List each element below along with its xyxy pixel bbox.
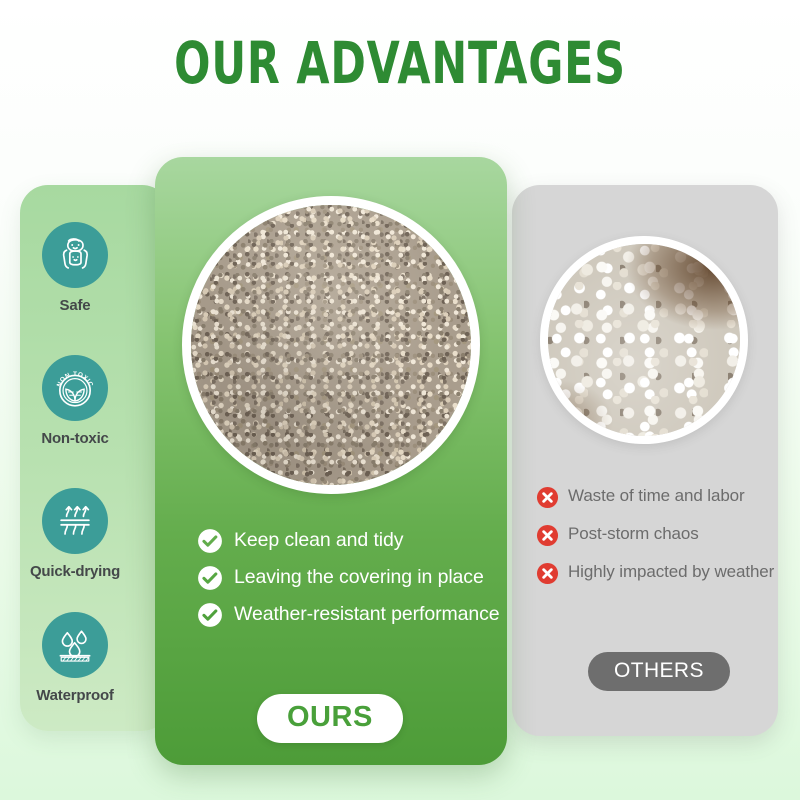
benefit-text: Leaving the covering in place xyxy=(234,565,484,589)
drawback-text: Waste of time and labor xyxy=(568,486,745,506)
list-item: Keep clean and tidy xyxy=(197,528,507,554)
feature-safe: Safe xyxy=(0,222,150,314)
others-product-photo xyxy=(540,236,748,444)
list-item: Highly impacted by weather xyxy=(536,562,786,585)
x-circle-icon xyxy=(536,486,559,509)
benefit-text: Keep clean and tidy xyxy=(234,528,403,552)
feature-waterproof: Waterproof xyxy=(0,612,150,704)
benefit-text: Weather-resistant performance xyxy=(234,602,500,626)
check-circle-icon xyxy=(197,528,223,554)
feature-non-toxic: NON TOXIC Non-toxic xyxy=(0,355,150,447)
baby-pet-in-hands-icon xyxy=(42,222,108,288)
svg-text:NON TOXIC: NON TOXIC xyxy=(56,371,94,388)
list-item: Weather-resistant performance xyxy=(197,602,507,628)
feature-label: Quick-drying xyxy=(0,563,150,580)
x-circle-icon xyxy=(536,524,559,547)
drawback-text: Post-storm chaos xyxy=(568,524,699,544)
waterproof-droplets-icon xyxy=(42,612,108,678)
ours-product-photo xyxy=(182,196,480,494)
ours-badge: OURS xyxy=(257,694,403,743)
list-item: Post-storm chaos xyxy=(536,524,786,547)
quick-drying-arrows-icon xyxy=(42,488,108,554)
non-toxic-leaves-icon: NON TOXIC xyxy=(42,355,108,421)
others-badge: OTHERS xyxy=(588,652,730,691)
page-title: OUR ADVANTAGES xyxy=(72,34,728,92)
list-item: Waste of time and labor xyxy=(536,486,786,509)
check-circle-icon xyxy=(197,602,223,628)
others-drawback-list: Waste of time and labor Post-storm chaos… xyxy=(536,486,786,600)
feature-label: Safe xyxy=(0,297,150,314)
x-circle-icon xyxy=(536,562,559,585)
ours-benefit-list: Keep clean and tidy Leaving the covering… xyxy=(197,528,507,628)
drawback-text: Highly impacted by weather xyxy=(568,562,774,582)
feature-label: Non-toxic xyxy=(0,430,150,447)
feature-label: Waterproof xyxy=(0,687,150,704)
check-circle-icon xyxy=(197,565,223,591)
list-item: Leaving the covering in place xyxy=(197,565,507,591)
feature-quick-drying: Quick-drying xyxy=(0,488,150,580)
